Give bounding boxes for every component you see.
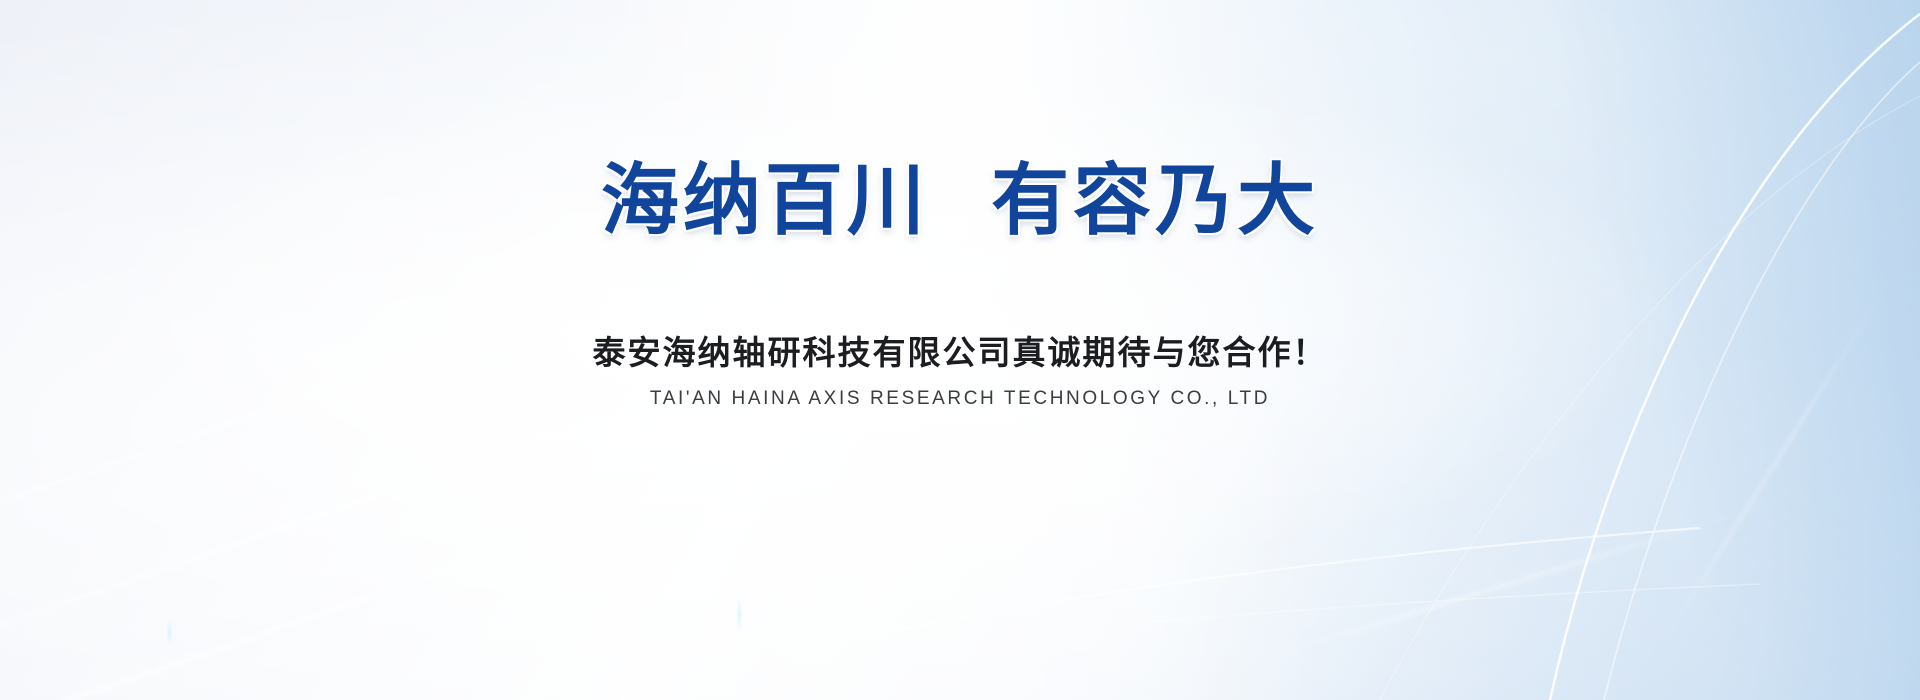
banner-subtitle-chinese: 泰安海纳轴研科技有限公司真诚期待与您合作！ [593, 326, 1328, 374]
banner-copy: 海纳百川 有容乃大 泰安海纳轴研科技有限公司真诚期待与您合作！ TAI'AN H… [0, 0, 1920, 700]
banner-headline: 海纳百川 有容乃大 [601, 162, 1319, 240]
banner-subtitle-english: TAI'AN HAINA AXIS RESEARCH TECHNOLOGY CO… [650, 388, 1270, 410]
hero-banner: 海纳百川 有容乃大 泰安海纳轴研科技有限公司真诚期待与您合作！ TAI'AN H… [0, 0, 1920, 700]
